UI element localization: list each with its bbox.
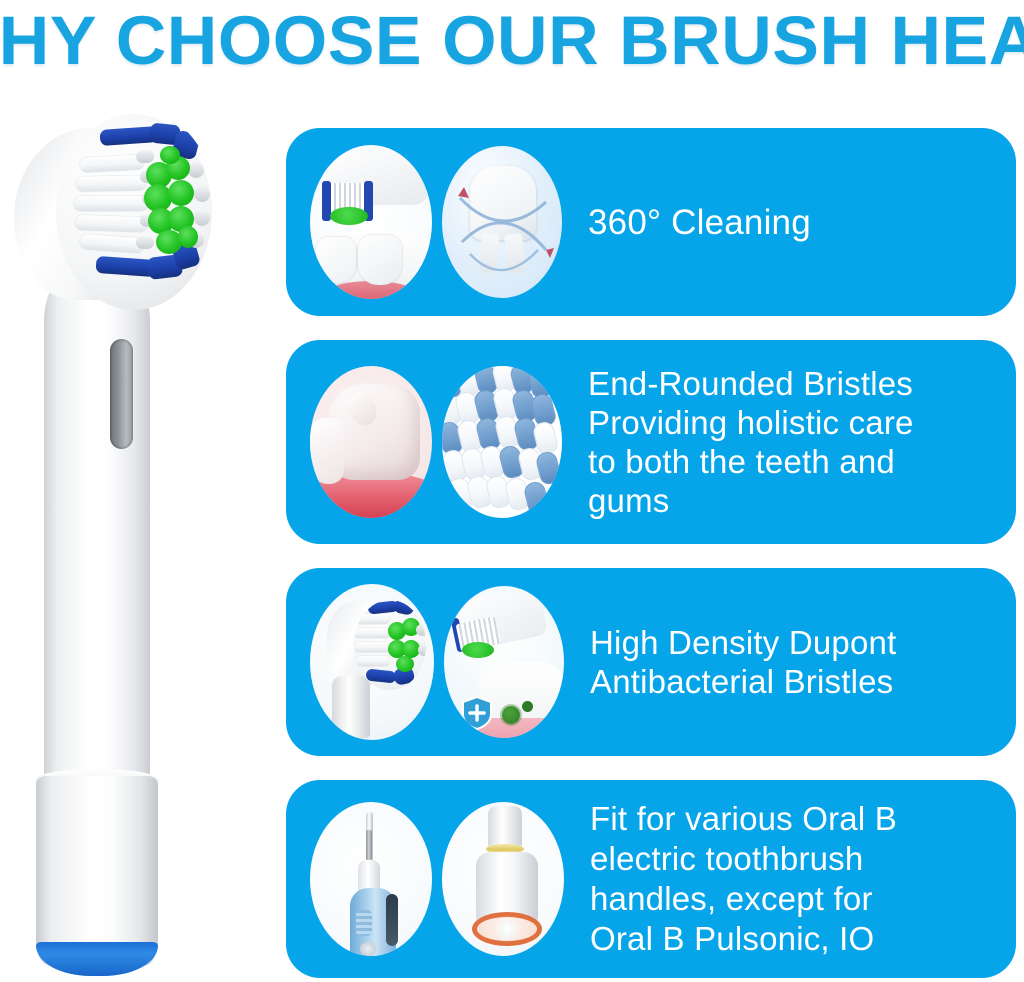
brush-bristles [62,110,216,306]
feature-card-360-cleaning[interactable]: 360° Cleaning [286,128,1016,316]
brush-handle-lower [36,776,158,966]
tooth-360-bubble-photo [442,146,562,298]
feature-card-text: Fit for various Oral B electric toothbru… [564,799,1016,959]
page-title: WHY CHOOSE OUR BRUSH HEAD [0,6,1024,75]
feature-card-end-rounded-bristles[interactable]: End-Rounded Bristles Providing holistic … [286,340,1016,544]
feature-card-high-density-dupont[interactable]: High Density Dupont Antibacterial Bristl… [286,568,1016,756]
feature-card-text: 360° Cleaning [562,203,1016,242]
feature-card-media [286,366,562,518]
power-button-icon [498,920,516,938]
feature-card-text: End-Rounded Bristles Providing holistic … [562,364,1016,520]
rotation-arrows-icon [442,146,562,298]
feature-card-fit-oral-b-handles[interactable]: Fit for various Oral B electric toothbru… [286,780,1016,978]
brush-on-teeth-photo [310,145,432,299]
molar-and-gum-photo [310,366,432,518]
handle-with-head-photo [442,802,564,956]
handle-slot-detail [110,339,133,449]
page-header: WHY CHOOSE OUR BRUSH HEAD [0,2,1024,78]
blue-handle-photo [310,802,432,956]
germ-icon [502,706,520,724]
feature-card-media [286,802,564,956]
feature-card-media [286,584,564,740]
germ-icon [522,701,533,712]
brush-head-closeup-photo [310,584,434,740]
rounded-bristle-tips-photo [442,366,562,518]
antibacterial-shield-photo [444,586,564,738]
feature-card-media [286,145,562,299]
brush-base-blue-ring [36,942,158,976]
power-button-icon [360,942,376,956]
shield-plus-icon [462,696,492,730]
feature-card-text: High Density Dupont Antibacterial Bristl… [564,623,1016,701]
product-hero-image [0,86,278,982]
